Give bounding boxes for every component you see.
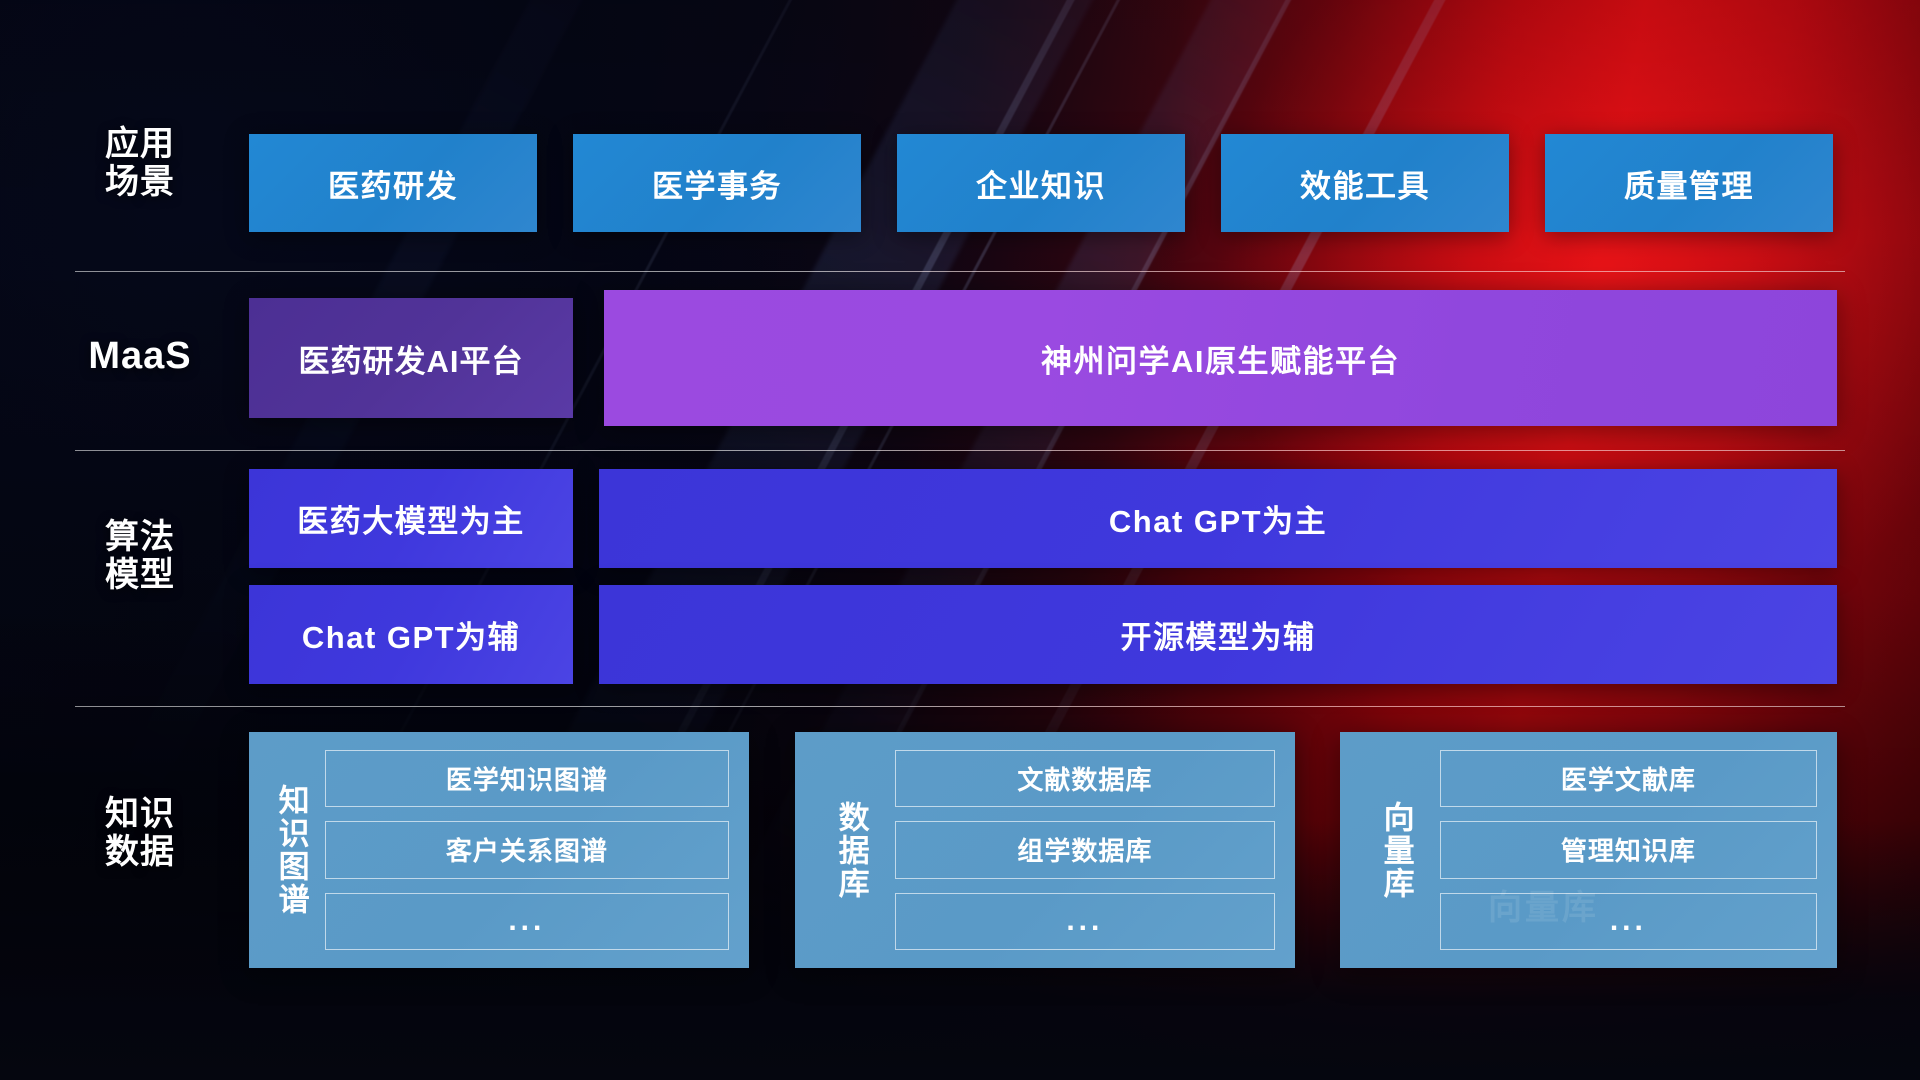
knowledge-item[interactable]: 管理知识库 bbox=[1440, 821, 1817, 878]
knowledge-item[interactable]: 客户关系图谱 bbox=[325, 821, 729, 878]
knowledge-item-more[interactable]: ... bbox=[895, 893, 1275, 950]
algo-box-chatgpt-primary[interactable]: Chat GPT为主 bbox=[599, 469, 1837, 568]
divider-after-application bbox=[75, 271, 1845, 272]
row-label-line: 数据 bbox=[75, 833, 205, 871]
algo-box-pharma-llm-primary[interactable]: 医药大模型为主 bbox=[249, 469, 573, 568]
app-box-efficiency-tools[interactable]: 效能工具 bbox=[1221, 134, 1509, 232]
divider-after-algorithm bbox=[75, 706, 1845, 707]
knowledge-panel-vertical-label: 知识图谱 bbox=[271, 784, 311, 916]
app-box-enterprise-knowledge[interactable]: 企业知识 bbox=[897, 134, 1185, 232]
knowledge-item-list: 文献数据库 组学数据库 ... bbox=[871, 732, 1295, 968]
algo-box-chatgpt-secondary[interactable]: Chat GPT为辅 bbox=[249, 585, 573, 684]
divider-after-maas bbox=[75, 450, 1845, 451]
knowledge-item[interactable]: 组学数据库 bbox=[895, 821, 1275, 878]
row-label-maas: MaaS bbox=[70, 335, 210, 378]
row-label-line: MaaS bbox=[70, 335, 210, 378]
knowledge-item-more[interactable]: ... bbox=[1440, 893, 1817, 950]
row-label-application-scenarios: 应用 场景 bbox=[75, 125, 205, 201]
app-box-quality-management[interactable]: 质量管理 bbox=[1545, 134, 1833, 232]
knowledge-panel-vertical-label: 数据库 bbox=[831, 801, 871, 900]
row-label-knowledge-data: 知识 数据 bbox=[75, 795, 205, 871]
knowledge-item-list: 医学知识图谱 客户关系图谱 ... bbox=[311, 732, 749, 968]
knowledge-item[interactable]: 文献数据库 bbox=[895, 750, 1275, 807]
knowledge-panel-vertical-label: 向量库 bbox=[1376, 801, 1416, 900]
row-label-line: 应用 bbox=[75, 125, 205, 163]
maas-box-shenzhou-ai-platform[interactable]: 神州问学AI原生赋能平台 bbox=[604, 290, 1837, 426]
slide-canvas: 应用 场景 医药研发 医学事务 企业知识 效能工具 质量管理 MaaS 医药研发… bbox=[0, 0, 1920, 1080]
diagram-content: 应用 场景 医药研发 医学事务 企业知识 效能工具 质量管理 MaaS 医药研发… bbox=[0, 0, 1920, 1080]
knowledge-panel-knowledge-graph[interactable]: 知识图谱 医学知识图谱 客户关系图谱 ... bbox=[249, 732, 749, 968]
row-label-algorithm-model: 算法 模型 bbox=[75, 518, 205, 594]
algo-box-opensource-secondary[interactable]: 开源模型为辅 bbox=[599, 585, 1837, 684]
knowledge-item[interactable]: 医学文献库 bbox=[1440, 750, 1817, 807]
row-label-line: 场景 bbox=[75, 163, 205, 201]
row-label-line: 模型 bbox=[75, 556, 205, 594]
row-label-line: 知识 bbox=[75, 795, 205, 833]
row-label-line: 算法 bbox=[75, 518, 205, 556]
maas-box-pharma-ai-platform[interactable]: 医药研发AI平台 bbox=[249, 298, 573, 418]
knowledge-item[interactable]: 医学知识图谱 bbox=[325, 750, 729, 807]
knowledge-panel-database[interactable]: 数据库 文献数据库 组学数据库 ... bbox=[795, 732, 1295, 968]
knowledge-item-more[interactable]: ... bbox=[325, 893, 729, 950]
app-box-medical-rd[interactable]: 医药研发 bbox=[249, 134, 537, 232]
knowledge-item-list: 医学文献库 管理知识库 ... bbox=[1416, 732, 1837, 968]
app-box-medical-affairs[interactable]: 医学事务 bbox=[573, 134, 861, 232]
knowledge-panel-vector-database[interactable]: 向量库 医学文献库 管理知识库 ... bbox=[1340, 732, 1837, 968]
